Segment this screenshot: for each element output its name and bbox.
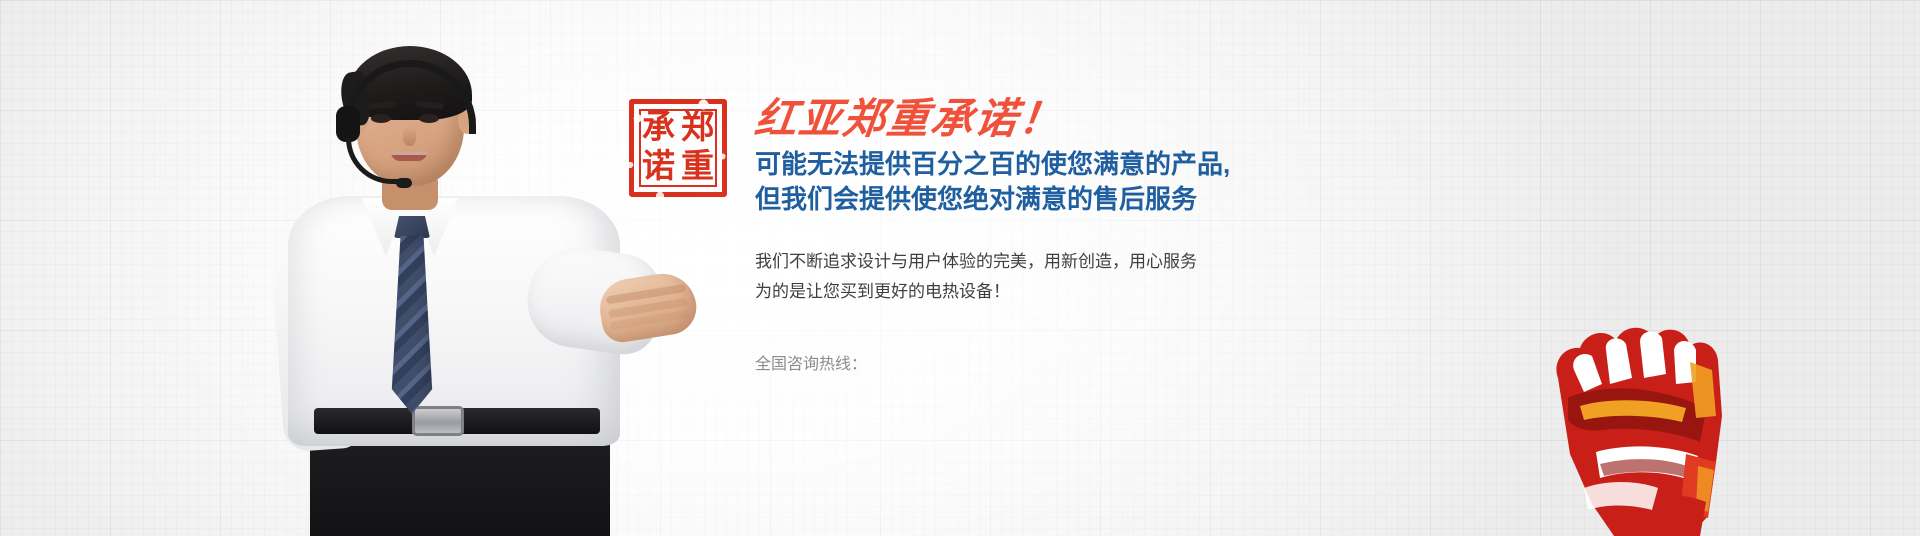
raised-fist-illustration (1540, 266, 1770, 536)
seal-char-4: 重 (678, 148, 717, 187)
hotline-label: 全国咨询热线： (755, 350, 1455, 374)
promo-banner: 承 郑 诺 重 红亚郑重承诺！ 可能无法提供百分之百的使您满意的产品, 但我们会… (0, 0, 1920, 536)
seal-char-2: 郑 (678, 109, 717, 148)
banner-paragraph-line-2: 为的是让您买到更好的电热设备！ (755, 277, 1455, 307)
banner-headline: 红亚郑重承诺！ (752, 96, 1458, 141)
banner-subheadline-line-1: 可能无法提供百分之百的使您满意的产品, (755, 147, 1455, 182)
banner-paragraph-line-1: 我们不断追求设计与用户体验的完美，用新创造，用心服务 (755, 247, 1455, 277)
headset-boom-arm (346, 138, 402, 184)
banner-copy: 红亚郑重承诺！ 可能无法提供百分之百的使您满意的产品, 但我们会提供使您绝对满意… (755, 96, 1455, 374)
fist-shapes (1556, 328, 1722, 536)
seal-char-1: 承 (639, 109, 678, 148)
banner-subheadline-line-2: 但我们会提供使您绝对满意的售后服务 (755, 182, 1455, 217)
seal-character-grid: 承 郑 诺 重 (639, 109, 717, 187)
headset-earcup (336, 106, 360, 142)
agent-tie-knot (394, 216, 430, 238)
customer-service-agent-photo (270, 40, 690, 536)
red-commitment-seal: 承 郑 诺 重 (629, 99, 727, 197)
seal-char-3: 诺 (639, 148, 678, 187)
headset-microphone (396, 178, 412, 188)
agent-belt-buckle (412, 406, 464, 436)
